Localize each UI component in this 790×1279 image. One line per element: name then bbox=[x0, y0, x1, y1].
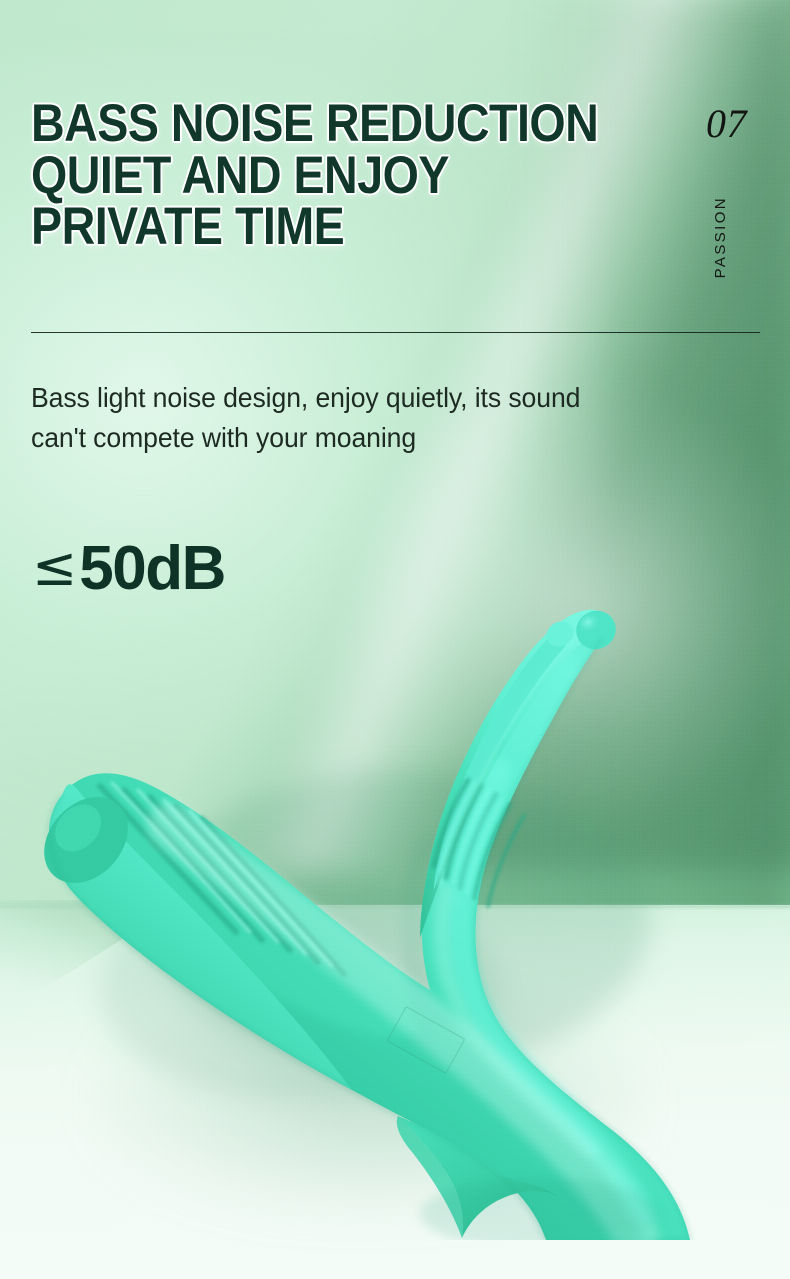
headline-line-1: BASS NOISE REDUCTION bbox=[31, 98, 612, 150]
divider-rule bbox=[31, 332, 760, 333]
body-copy-line-1: Bass light noise design, enjoy quietly, … bbox=[31, 378, 639, 418]
less-than-or-equal-icon: ≤ bbox=[32, 540, 77, 594]
section-number: 07 bbox=[706, 104, 747, 144]
headline-line-3: PRIVATE TIME bbox=[31, 201, 612, 253]
headline: BASS NOISE REDUCTION QUIET AND ENJOY PRI… bbox=[31, 98, 691, 253]
product-image bbox=[0, 590, 790, 1240]
vertical-brand-label: PASSION bbox=[712, 196, 729, 278]
headline-line-2: QUIET AND ENJOY bbox=[31, 150, 612, 202]
product-feature-page: BASS NOISE REDUCTION QUIET AND ENJOY PRI… bbox=[0, 0, 790, 1279]
body-copy-line-2: can't compete with your moaning bbox=[31, 418, 639, 458]
body-copy: Bass light noise design, enjoy quietly, … bbox=[31, 378, 639, 458]
